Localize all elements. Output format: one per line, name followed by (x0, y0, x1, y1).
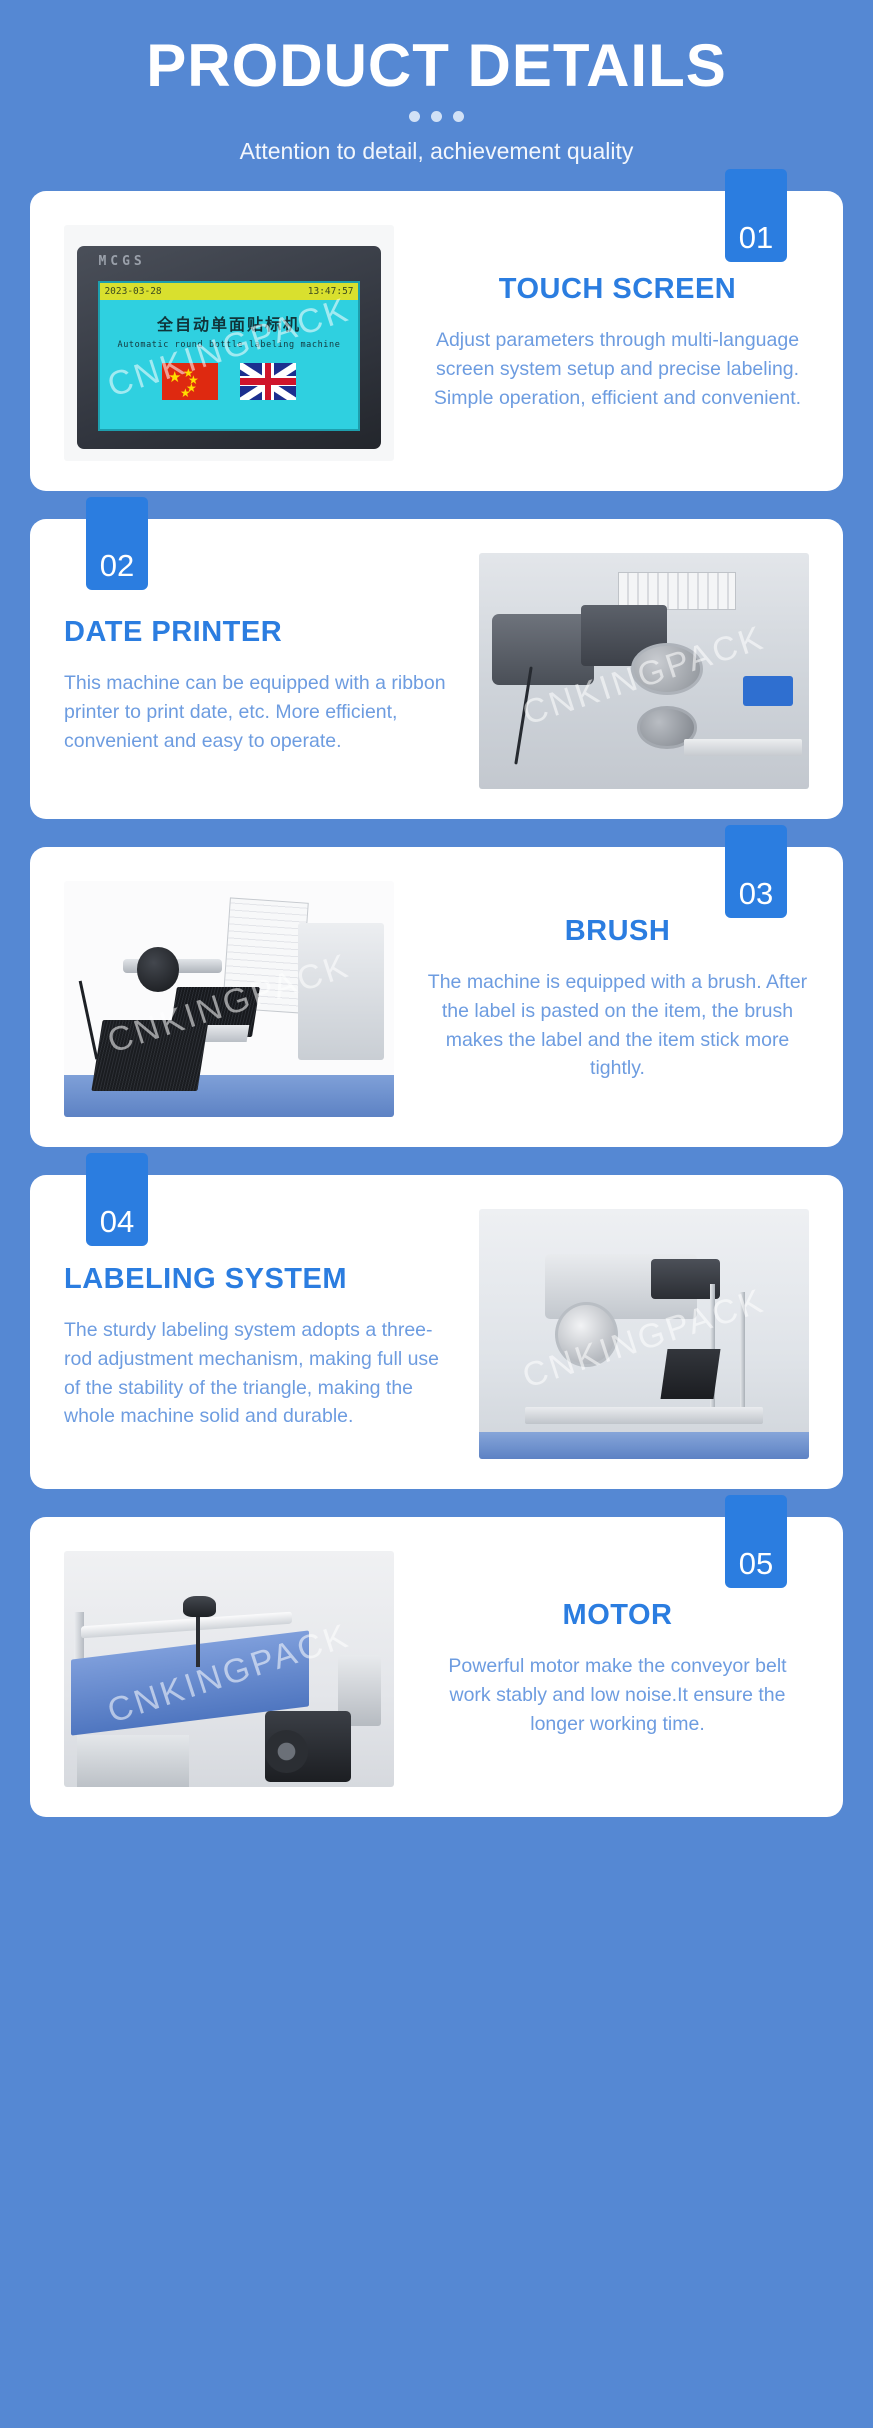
card-body: Adjust parameters through multi-language… (426, 326, 809, 413)
product-detail-card-motor: 05 CNKINGPACK MOTOR Powerful motor make … (30, 1517, 843, 1817)
card-title: BRUSH (426, 915, 809, 948)
product-detail-card-date-printer: 02 DATE PRINTER This machine can be equi… (30, 519, 843, 819)
product-detail-card-touch-screen: 01 MCGS 2023-03-28 13:47:57 全自动单面贴标机 Aut… (30, 191, 843, 491)
hmi-brand-label: MCGS (98, 254, 145, 269)
card-title: MOTOR (426, 1599, 809, 1632)
hmi-language-flags: ★ ★ ★ ★ ★ (100, 363, 357, 400)
adjustment-knob (183, 1596, 216, 1617)
separator-dot (409, 111, 420, 122)
card-number-badge: 01 (725, 169, 787, 262)
printer-motor-body (492, 614, 594, 685)
card-number-badge: 02 (86, 497, 148, 590)
card-title: TOUCH SCREEN (426, 273, 809, 306)
motor-fan-vent (265, 1730, 308, 1772)
card-body: Powerful motor make the conveyor belt wo… (426, 1652, 809, 1739)
brush-photo: CNKINGPACK (64, 881, 394, 1117)
machine-rail (684, 739, 803, 756)
card-title: DATE PRINTER (64, 616, 453, 649)
separator-dot (431, 111, 442, 122)
label-reel-disc (555, 1302, 618, 1367)
knob-stem (196, 1615, 200, 1667)
conveyor-belt (479, 1432, 809, 1460)
card-body: The sturdy labeling system adopts a thre… (64, 1316, 453, 1431)
product-detail-card-brush: 03 CNKINGPACK BRUSH The machine is equip… (30, 847, 843, 1147)
rod-hub (137, 947, 180, 992)
uk-flag-icon[interactable] (240, 363, 296, 400)
hmi-date: 2023-03-28 (104, 286, 161, 297)
separator-dot (453, 111, 464, 122)
card-title: LABELING SYSTEM (64, 1263, 453, 1296)
machine-base (525, 1407, 763, 1425)
page-header: PRODUCT DETAILS Attention to detail, ach… (0, 0, 873, 165)
machine-frame (298, 923, 384, 1060)
date-printer-photo: CNKINGPACK (479, 553, 809, 789)
card-body: This machine can be equipped with a ribb… (64, 669, 453, 756)
hmi-time: 13:47:57 (308, 286, 354, 297)
dot-separator (0, 111, 873, 122)
hmi-screen: 2023-03-28 13:47:57 全自动单面贴标机 Automatic r… (98, 281, 359, 431)
machine-frame (77, 1735, 189, 1787)
adjustment-rod-two (740, 1292, 745, 1412)
product-detail-card-labeling-system: 04 LABELING SYSTEM The sturdy labeling s… (30, 1175, 843, 1489)
page-title: PRODUCT DETAILS (0, 34, 873, 97)
label-roll-strip (618, 572, 737, 610)
labeling-system-photo: CNKINGPACK (479, 1209, 809, 1459)
peel-plate (660, 1349, 720, 1399)
hmi-title-chinese: 全自动单面贴标机 (100, 311, 357, 335)
touch-screen-hmi-photo: MCGS 2023-03-28 13:47:57 全自动单面贴标机 Automa… (64, 225, 394, 461)
china-flag-icon[interactable]: ★ ★ ★ ★ ★ (162, 363, 218, 400)
hmi-bezel: MCGS 2023-03-28 13:47:57 全自动单面贴标机 Automa… (77, 246, 381, 449)
card-number-badge: 04 (86, 1153, 148, 1246)
motor-conveyor-photo: CNKINGPACK (64, 1551, 394, 1787)
card-number-badge: 03 (725, 825, 787, 918)
ribbon-roll-upper (631, 643, 704, 695)
hmi-status-bar: 2023-03-28 13:47:57 (100, 283, 357, 300)
product-detail-card-list: 01 MCGS 2023-03-28 13:47:57 全自动单面贴标机 Aut… (0, 191, 873, 1817)
power-cable (79, 981, 99, 1060)
hmi-title-english: Automatic round bottle labeling machine (100, 340, 357, 350)
card-number-badge: 05 (725, 1495, 787, 1588)
blue-tray (743, 676, 793, 707)
page-subtitle: Attention to detail, achievement quality (0, 138, 873, 165)
guide-rail (81, 1612, 292, 1639)
brush-bristles-lower (91, 1020, 208, 1091)
card-body: The machine is equipped with a brush. Af… (426, 968, 809, 1083)
